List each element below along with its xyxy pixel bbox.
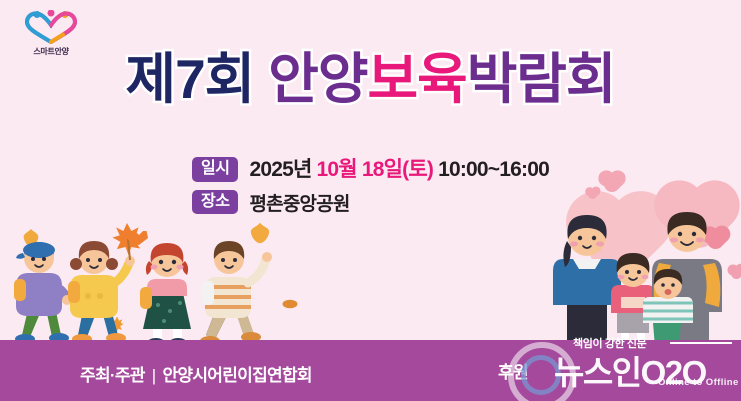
child-figure (140, 243, 191, 348)
child-figure (68, 231, 148, 344)
place-badge: 장소 (192, 190, 238, 215)
family-of-four-illustration (541, 201, 741, 361)
date-highlight: 10월 18일(토) (317, 158, 434, 181)
footer-separator: | (152, 366, 156, 385)
date-badge: 일시 (192, 157, 238, 182)
child-figure (200, 241, 272, 346)
footer-bar: 주최·주관|안양시어린이집연합회 (0, 340, 741, 401)
mother-figure (553, 215, 621, 357)
title-part-boyuk: 보육 (367, 48, 466, 110)
title-part-expo: 박람회 (467, 48, 616, 110)
date-value: 2025년 10월 18일(토) 10:00~16:00 (249, 158, 549, 181)
event-poster: 스마트안양 제7회안양보육박람회 일시 2025년 10월 18일(토) 10:… (0, 0, 741, 401)
title-part-edition: 제7회 (125, 48, 254, 110)
heart-people-icon (24, 10, 78, 44)
date-time: 10:00~16:00 (438, 158, 549, 181)
page-title: 제7회안양보육박람회 (0, 52, 741, 107)
date-row: 일시 2025년 10월 18일(토) 10:00~16:00 (192, 157, 549, 182)
child-figure (14, 242, 72, 344)
title-part-anyang: 안양 (268, 48, 367, 110)
sponsor-label: 후원 (498, 358, 528, 383)
host-label: 주최·주관 (80, 366, 145, 385)
host-info: 주최·주관|안양시어린이집연합회 (80, 361, 312, 386)
host-name: 안양시어린이집연합회 (162, 366, 311, 385)
event-info: 일시 2025년 10월 18일(토) 10:00~16:00 장소 평촌중앙공… (192, 157, 549, 223)
place-row: 장소 평촌중앙공원 (192, 189, 549, 216)
place-value: 평촌중앙공원 (249, 189, 349, 216)
date-year: 2025년 (249, 158, 311, 181)
